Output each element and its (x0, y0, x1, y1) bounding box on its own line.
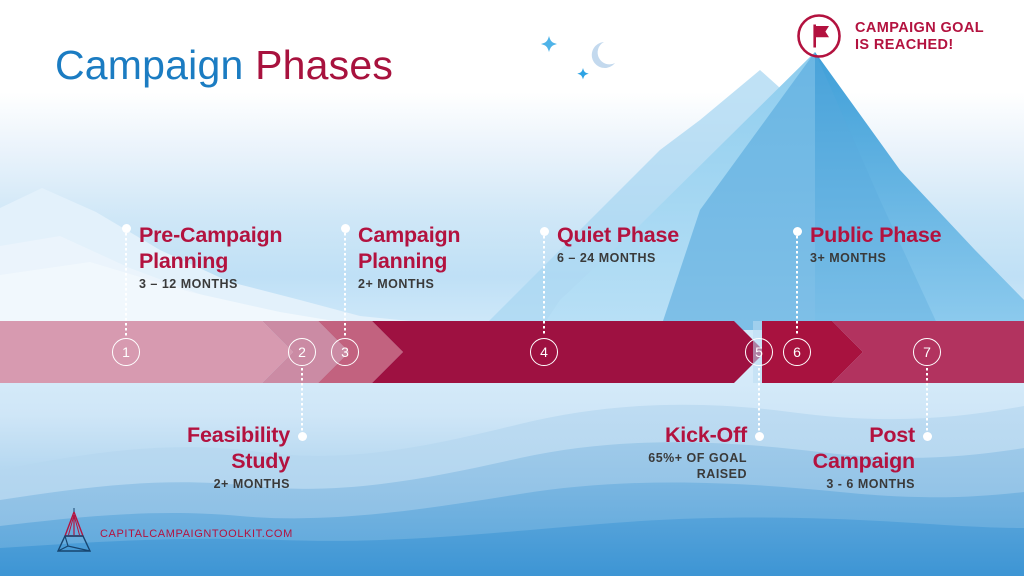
title-part-campaign: Campaign (55, 42, 255, 88)
connector-line-3 (344, 228, 346, 336)
phase-heading-line-2: Planning (139, 248, 282, 274)
phase-label-campaign-planning: Campaign Planning 2+ MONTHS (358, 222, 460, 292)
timeline-marker-3[interactable]: 3 (331, 338, 359, 366)
pyramid-logo-icon (52, 508, 96, 556)
connector-dot-1 (122, 224, 131, 233)
phase-heading-line-1: Public Phase (810, 222, 941, 248)
connector-dot-3 (341, 224, 350, 233)
connector-dot-7 (923, 432, 932, 441)
timeline-marker-6[interactable]: 6 (783, 338, 811, 366)
phase-heading-line-1: Quiet Phase (557, 222, 679, 248)
campaign-goal-text: CAMPAIGN GOAL IS REACHED! (855, 20, 984, 54)
phase-heading-line-2: Planning (358, 248, 460, 274)
timeline-bar (0, 321, 1024, 383)
phase-label-post-campaign: Post Campaign 3 - 6 MONTHS (700, 422, 915, 492)
phase-label-public-phase: Public Phase 3+ MONTHS (810, 222, 941, 266)
phase-heading-line-1: Feasibility (0, 422, 290, 448)
phase-heading-line-1: Campaign (358, 222, 460, 248)
phase-heading: Pre-Campaign Planning (139, 222, 282, 274)
goal-line-2: IS REACHED! (855, 37, 984, 54)
phase-label-quiet-phase: Quiet Phase 6 – 24 MONTHS (557, 222, 679, 266)
phase-heading: Post Campaign (700, 422, 915, 474)
page-title: Campaign Phases (55, 42, 393, 89)
phase-duration: 3 – 12 MONTHS (139, 276, 282, 292)
phase-heading-line-1: Pre-Campaign (139, 222, 282, 248)
connector-line-4 (543, 231, 545, 336)
phase-duration: 6 – 24 MONTHS (557, 250, 679, 266)
phase-heading: Campaign Planning (358, 222, 460, 274)
connector-dot-2 (298, 432, 307, 441)
connector-line-1 (125, 228, 127, 336)
phase-duration: 2+ MONTHS (358, 276, 460, 292)
timeline-marker-7[interactable]: 7 (913, 338, 941, 366)
infographic-canvas: Campaign Phases CAMPAIGN GOAL IS REACHED… (0, 0, 1024, 576)
bar-segment-1 (0, 321, 293, 383)
phase-duration: 2+ MONTHS (0, 476, 290, 492)
connector-dot-6 (793, 227, 802, 236)
phase-heading: Feasibility Study (0, 422, 290, 474)
phase-label-feasibility-study: Feasibility Study 2+ MONTHS (0, 422, 290, 492)
bar-segment-4 (372, 321, 765, 383)
phase-duration: 3+ MONTHS (810, 250, 941, 266)
timeline-marker-1[interactable]: 1 (112, 338, 140, 366)
sparkle-star-icon (577, 68, 588, 79)
flag-in-circle-icon (795, 12, 843, 60)
phase-heading: Public Phase (810, 222, 941, 248)
crescent-moon-icon (592, 42, 615, 68)
website-url[interactable]: CAPITALCAMPAIGNTOOLKIT.COM (100, 528, 293, 540)
connector-dot-4 (540, 227, 549, 236)
phase-duration: 3 - 6 MONTHS (700, 476, 915, 492)
timeline-marker-4[interactable]: 4 (530, 338, 558, 366)
connector-line-7 (926, 368, 928, 436)
connector-line-2 (301, 368, 303, 436)
title-part-phases: Phases (255, 42, 393, 88)
timeline-marker-5[interactable]: 5 (745, 338, 773, 366)
phase-label-pre-campaign-planning: Pre-Campaign Planning 3 – 12 MONTHS (139, 222, 282, 292)
phase-heading-line-2: Campaign (700, 448, 915, 474)
phase-heading-line-1: Post (700, 422, 915, 448)
timeline-marker-2[interactable]: 2 (288, 338, 316, 366)
connector-line-6 (796, 231, 798, 336)
phase-heading: Quiet Phase (557, 222, 679, 248)
sparkle-star-icon (541, 36, 557, 52)
phase-heading-line-2: Study (0, 448, 290, 474)
goal-line-1: CAMPAIGN GOAL (855, 20, 984, 37)
